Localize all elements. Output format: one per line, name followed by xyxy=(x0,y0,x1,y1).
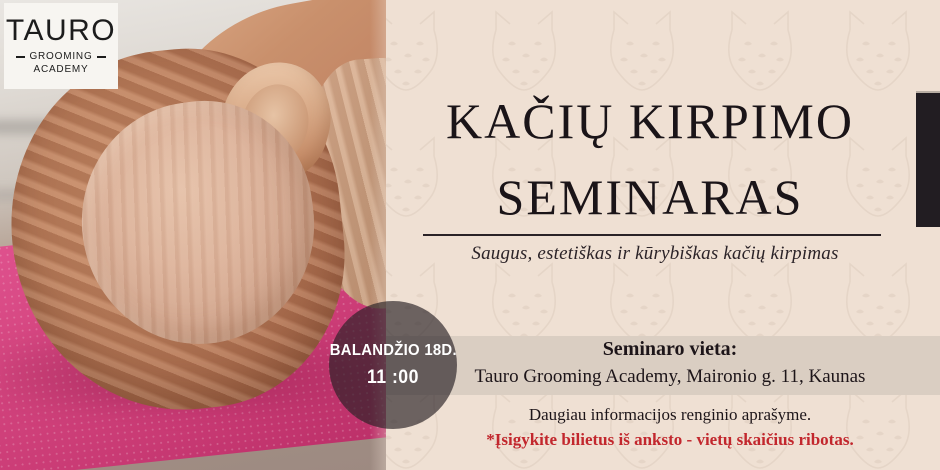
headline-divider xyxy=(423,234,881,236)
headline-line-2: SEMINARAS xyxy=(400,172,900,222)
headline-line-1: KAČIŲ KIRPIMO xyxy=(400,96,900,146)
logo-dash-right-icon xyxy=(97,56,106,58)
brand-logo: TAURO GROOMING ACADEMY xyxy=(4,3,118,89)
logo-subtitle-academy: ACADEMY xyxy=(33,63,88,76)
logo-subtitle-grooming: GROOMING xyxy=(29,51,92,64)
logo-subtitle-row: GROOMING xyxy=(16,51,105,64)
poster-canvas: TAURO GROOMING ACADEMY KAČIŲ KIRPIMO SEM… xyxy=(0,0,940,470)
ticket-notice: *Įsigykite bilietus iš anksto - vietų sk… xyxy=(400,430,940,450)
venue-label: Seminaro vieta: xyxy=(420,338,920,361)
more-info-text: Daugiau informacijos renginio aprašyme. xyxy=(420,405,920,425)
logo-wordmark: TAURO xyxy=(6,16,116,46)
headline: KAČIŲ KIRPIMO SEMINARAS xyxy=(400,96,900,222)
logo-dash-left-icon xyxy=(16,56,25,58)
venue-address: Tauro Grooming Academy, Maironio g. 11, … xyxy=(400,366,940,388)
subtitle: Saugus, estetiškas ir kūrybiškas kačių k… xyxy=(400,243,910,265)
dark-accent-bar xyxy=(916,91,940,227)
